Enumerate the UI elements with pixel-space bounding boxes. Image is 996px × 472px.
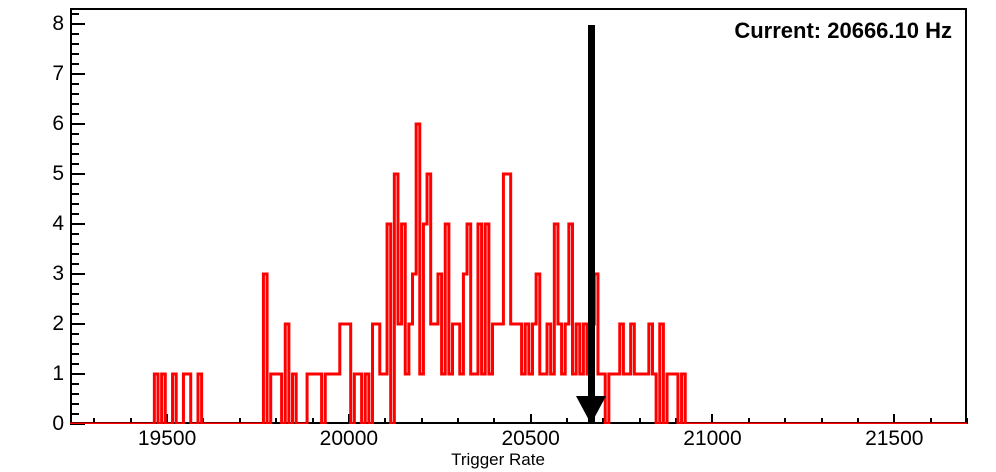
y-axis-tick-label: 1 — [24, 363, 64, 384]
histogram-outline — [70, 8, 967, 424]
x-axis-tick-label: 19500 — [107, 428, 227, 449]
y-axis-tick-label: 2 — [24, 313, 64, 334]
x-axis-tick-label: 21000 — [652, 428, 772, 449]
y-axis-tick-label: 5 — [24, 163, 64, 184]
histogram-path — [70, 124, 967, 424]
x-axis-tick-label: 21500 — [834, 428, 954, 449]
y-axis-tick-label: 0 — [24, 413, 64, 434]
y-axis-tick-label: 6 — [24, 113, 64, 134]
current-value-arrow-icon — [576, 396, 606, 424]
histogram-series — [70, 8, 967, 424]
current-value-marker-line — [588, 25, 595, 424]
x-axis-tick-label: 20500 — [471, 428, 591, 449]
y-axis-tick-label: 4 — [24, 213, 64, 234]
current-value-readout: Current: 20666.10 Hz — [0, 18, 952, 44]
x-axis-title: Trigger Rate — [0, 450, 996, 470]
root-histogram-canvas: 012345678 1950020000205002100021500 Curr… — [0, 0, 996, 472]
x-axis-tick-label: 20000 — [289, 428, 409, 449]
y-axis-tick-label: 7 — [24, 63, 64, 84]
y-axis-tick-label: 3 — [24, 263, 64, 284]
